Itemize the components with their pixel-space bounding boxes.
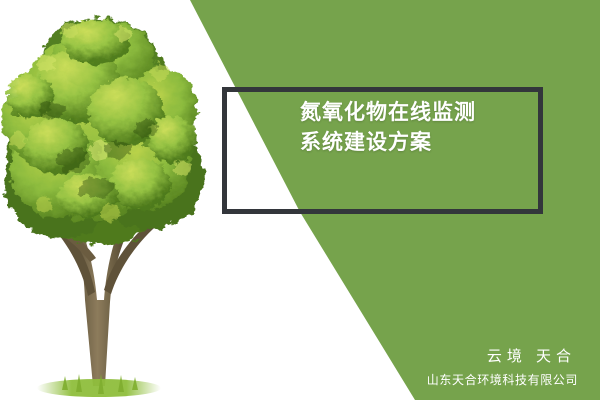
brand-name: 云境 天合 xyxy=(427,345,578,366)
page-title: 氮氧化物在线监测 系统建设方案 xyxy=(300,98,550,159)
presentation-cover-slide: 氮氧化物在线监测 系统建设方案 云境 天合 山东天合环境科技有限公司 xyxy=(0,0,600,400)
title-line-2: 系统建设方案 xyxy=(300,128,550,158)
title-line-1: 氮氧化物在线监测 xyxy=(300,98,550,128)
brand-block: 云境 天合 山东天合环境科技有限公司 xyxy=(427,345,578,388)
brand-company-name: 山东天合环境科技有限公司 xyxy=(427,371,578,388)
